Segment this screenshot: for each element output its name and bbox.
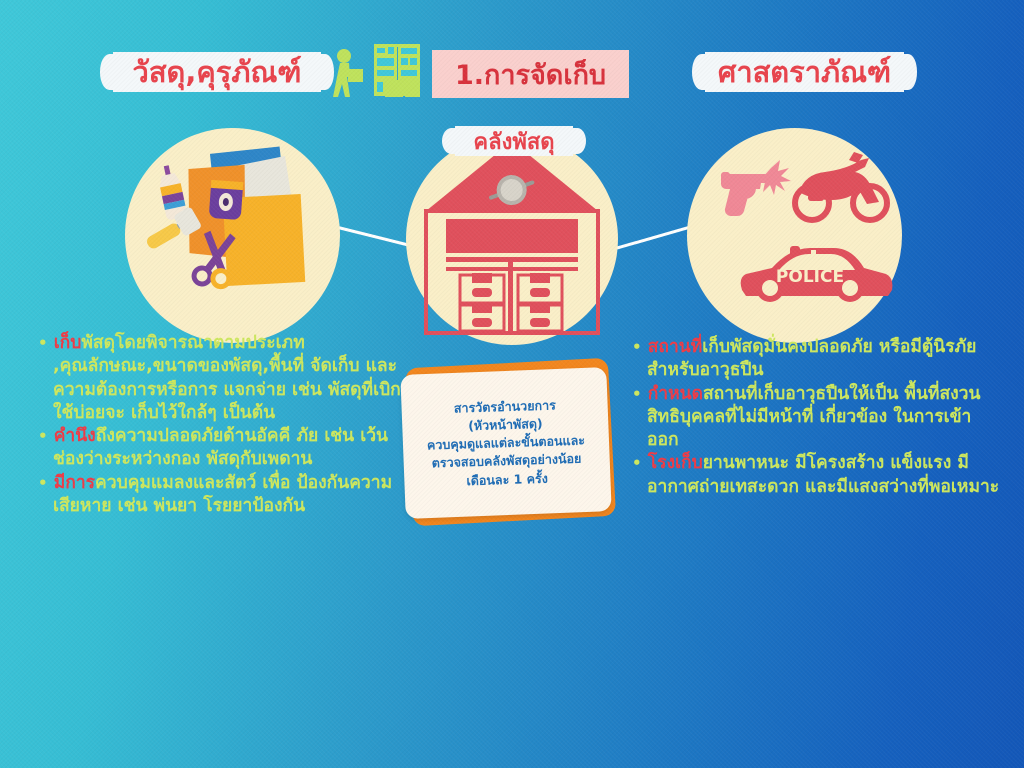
- bullet-lead: เก็บ: [54, 333, 82, 353]
- header-left-label: วัสดุ,คุรุภัณฑ์: [113, 52, 321, 92]
- center-card-front: สารวัตรอำนวยการ (หัวหน้าพัสดุ) ควบคุมดูแ…: [400, 367, 611, 519]
- office-supplies-art: [125, 128, 340, 343]
- motorcycle-icon: [795, 152, 887, 220]
- center-card-text: สารวัตรอำนวยการ (หัวหน้าพัสดุ) ควบคุมดูแ…: [418, 395, 595, 491]
- bullet-lead: คำนึง: [54, 426, 96, 446]
- bullet-marker: •: [38, 427, 48, 445]
- bullet-marker: •: [38, 474, 48, 492]
- list-item: • สถานที่เก็บพัสดุมั่นคงปลอดภัย หรือมีตู…: [632, 336, 1002, 383]
- header-right-label: ศาสตราภัณฑ์: [705, 52, 904, 92]
- list-item: • โรงเก็บยานพาหนะ มีโครงสร้าง แข็งแรง มี…: [632, 452, 1002, 499]
- bullet-marker: •: [38, 334, 48, 352]
- warehouse-worker-icon: [328, 42, 432, 108]
- left-bullet-list: • เก็บพัสดุโดยพิจารณาตามประเภท ,คุณลักษณ…: [38, 332, 406, 518]
- weapons-vehicles-art: POLICE: [687, 128, 902, 343]
- page-title-text: 1.การจัดเก็บ: [455, 53, 606, 96]
- revolver-icon: [721, 160, 791, 216]
- bullet-rest: ถึงความปลอดภัยด้านอัคคี ภัย เช่น เว้นช่อ…: [53, 426, 388, 469]
- center-circle-label: คลังพัสดุ: [455, 126, 573, 156]
- header-left-text: วัสดุ,คุรุภัณฑ์: [133, 49, 302, 95]
- list-item: • กำหนดสถานที่เก็บอาวุธปืนให้เป็น พื้นที…: [632, 383, 1002, 453]
- page-title-banner: 1.การจัดเก็บ: [432, 50, 629, 98]
- list-item: • เก็บพัสดุโดยพิจารณาตามประเภท ,คุณลักษณ…: [38, 332, 406, 425]
- bullet-marker: •: [632, 385, 642, 403]
- bullet-lead: มีการ: [54, 473, 95, 493]
- bullet-lead: โรงเก็บ: [648, 453, 703, 473]
- center-circle-label-text: คลังพัสดุ: [473, 124, 554, 159]
- list-item: • มีการควบคุมแมลงและสัตว์ เพื่อ ป้องกันค…: [38, 472, 406, 519]
- bullet-marker: •: [632, 338, 642, 356]
- header-right-text: ศาสตราภัณฑ์: [718, 49, 891, 95]
- police-car-icon: POLICE: [741, 246, 893, 302]
- list-item: • คำนึงถึงความปลอดภัยด้านอัคคี ภัย เช่น …: [38, 425, 406, 472]
- bullet-lead: สถานที่: [648, 337, 703, 357]
- office-supplies-illustration: [125, 128, 340, 343]
- bullet-rest: ควบคุมแมลงและสัตว์ เพื่อ ป้องกันความเสีย…: [53, 473, 392, 516]
- bullet-marker: •: [632, 454, 642, 472]
- right-bullet-list: • สถานที่เก็บพัสดุมั่นคงปลอดภัย หรือมีตู…: [632, 336, 1002, 499]
- police-car-text: POLICE: [776, 267, 844, 287]
- bullet-lead: กำหนด: [648, 384, 703, 404]
- weapons-vehicles-illustration: POLICE: [687, 128, 902, 343]
- warehouse-building-art: [406, 133, 618, 345]
- warehouse-building-illustration: [406, 133, 618, 345]
- bullet-rest: พัสดุโดยพิจารณาตามประเภท ,คุณลักษณะ,ขนาด…: [53, 333, 401, 423]
